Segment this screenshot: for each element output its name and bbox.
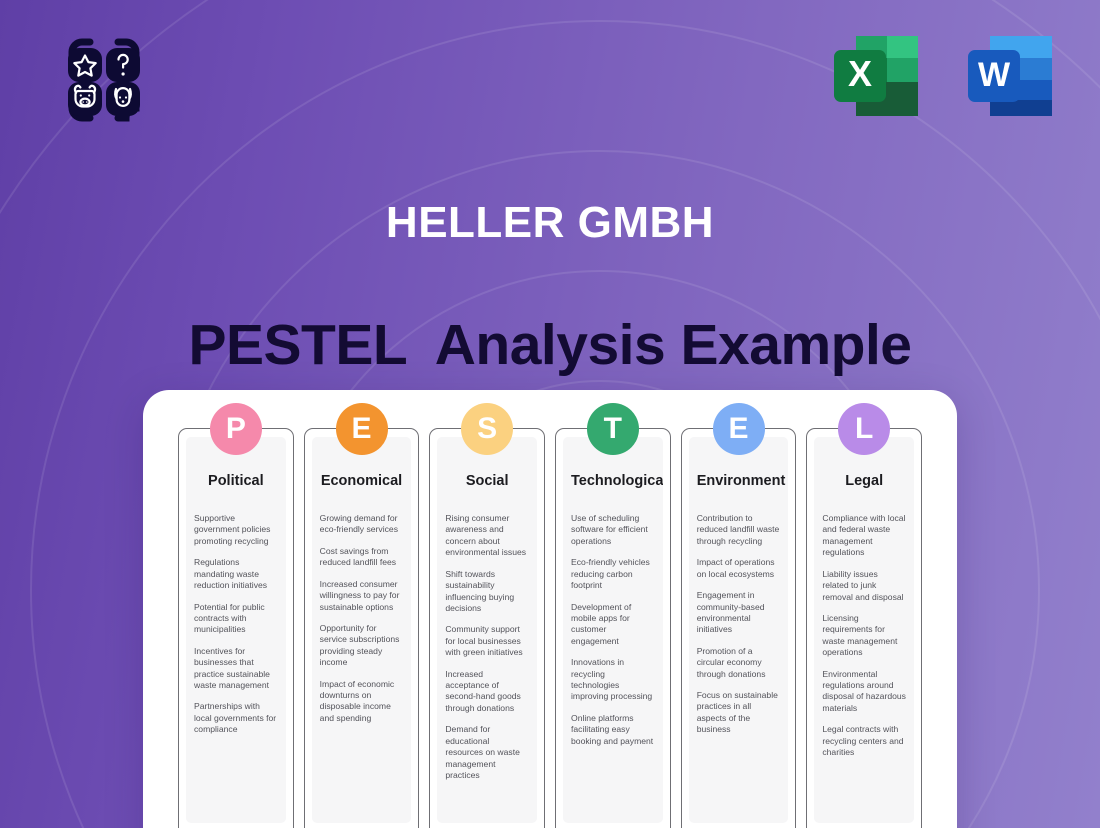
svg-text:W: W (978, 56, 1011, 94)
column-point-list: Rising consumer awareness and concern ab… (445, 513, 529, 781)
word-export-button[interactable]: W (960, 26, 1060, 126)
column-letter-badge: L (838, 403, 890, 455)
column-point-list: Growing demand for eco-friendly services… (320, 513, 404, 724)
pestel-columns: PPoliticalSupportive government policies… (178, 428, 922, 828)
export-badges: X W (826, 26, 1060, 126)
column-point: Online platforms facilitating easy booki… (571, 713, 655, 747)
pestel-column-environment[interactable]: EEnvironmentContribution to reduced land… (681, 428, 797, 828)
column-body: TechnologicalUse of scheduling software … (563, 437, 663, 823)
column-body: EconomicalGrowing demand for eco-friendl… (312, 437, 412, 823)
column-letter-badge: E (713, 403, 765, 455)
column-body: LegalCompliance with local and federal w… (814, 437, 914, 823)
column-point: Impact of economic downturns on disposab… (320, 679, 404, 725)
column-heading: Political (194, 473, 278, 489)
column-point: Increased consumer willingness to pay fo… (320, 579, 404, 613)
column-point: Cost savings from reduced landfill fees (320, 546, 404, 569)
column-point: Regulations mandating waste reduction in… (194, 557, 278, 591)
column-point-list: Contribution to reduced landfill waste t… (697, 513, 781, 736)
column-point: Development of mobile apps for customer … (571, 602, 655, 648)
pestel-column-economical[interactable]: EEconomicalGrowing demand for eco-friend… (304, 428, 420, 828)
column-heading: Environment (697, 473, 781, 489)
column-point-list: Supportive government policies promoting… (194, 513, 278, 736)
column-point: Use of scheduling software for efficient… (571, 513, 655, 547)
column-point: Focus on sustainable practices in all as… (697, 690, 781, 736)
column-point: Rising consumer awareness and concern ab… (445, 513, 529, 559)
column-point: Partnerships with local governments for … (194, 701, 278, 735)
column-letter-badge: S (461, 403, 513, 455)
column-point: Demand for educational resources on wast… (445, 724, 529, 781)
column-point: Opportunity for service subscriptions pr… (320, 623, 404, 669)
column-body: SocialRising consumer awareness and conc… (437, 437, 537, 823)
column-point: Promotion of a circular economy through … (697, 646, 781, 680)
column-point: Increased acceptance of second-hand good… (445, 669, 529, 715)
column-heading: Economical (320, 473, 404, 489)
slide-canvas: X W HELLER GMBH PESTEL Analysis Example … (0, 0, 1100, 828)
column-point: Community support for local businesses w… (445, 624, 529, 658)
question-mark-dot (122, 72, 125, 75)
column-point: Supportive government policies promoting… (194, 513, 278, 547)
column-point: Contribution to reduced landfill waste t… (697, 513, 781, 547)
column-body: EnvironmentContribution to reduced landf… (689, 437, 789, 823)
column-point: Licensing requirements for waste managem… (822, 613, 906, 659)
pestel-column-legal[interactable]: LLegalCompliance with local and federal … (806, 428, 922, 828)
column-heading: Technological (571, 473, 655, 489)
column-point: Incentives for businesses that practice … (194, 646, 278, 692)
pestel-column-technological[interactable]: TTechnologicalUse of scheduling software… (555, 428, 671, 828)
column-point: Innovations in recycling technologies im… (571, 657, 655, 703)
column-body: PoliticalSupportive government policies … (186, 437, 286, 823)
column-point: Engagement in community-based environmen… (697, 590, 781, 636)
column-point-list: Compliance with local and federal waste … (822, 513, 906, 759)
column-point: Eco-friendly vehicles reducing carbon fo… (571, 557, 655, 591)
column-letter-badge: E (336, 403, 388, 455)
column-point: Impact of operations on local ecosystems (697, 557, 781, 580)
pestel-column-political[interactable]: PPoliticalSupportive government policies… (178, 428, 294, 828)
column-letter-badge: P (210, 403, 262, 455)
word-export-icon: W (968, 36, 1052, 116)
column-point: Potential for public contracts with muni… (194, 602, 278, 636)
column-heading: Legal (822, 473, 906, 489)
excel-export-button[interactable]: X (826, 26, 926, 126)
excel-export-icon: X (834, 36, 918, 116)
pestel-board: PPoliticalSupportive government policies… (143, 390, 957, 828)
column-point: Compliance with local and federal waste … (822, 513, 906, 559)
brand-logo[interactable] (48, 24, 160, 136)
column-point: Environmental regulations around disposa… (822, 669, 906, 715)
svg-text:X: X (848, 53, 872, 94)
column-heading: Social (445, 473, 529, 489)
column-point-list: Use of scheduling software for efficient… (571, 513, 655, 747)
column-point: Legal contracts with recycling centers a… (822, 724, 906, 758)
column-letter-badge: T (587, 403, 639, 455)
company-name: HELLER GMBH (0, 198, 1100, 248)
pestel-column-social[interactable]: SSocialRising consumer awareness and con… (429, 428, 545, 828)
column-point: Shift towards sustainability influencing… (445, 569, 529, 615)
page-title: PESTEL Analysis Example (0, 312, 1100, 378)
column-point: Growing demand for eco-friendly services (320, 513, 404, 536)
column-point: Liability issues related to junk removal… (822, 569, 906, 603)
